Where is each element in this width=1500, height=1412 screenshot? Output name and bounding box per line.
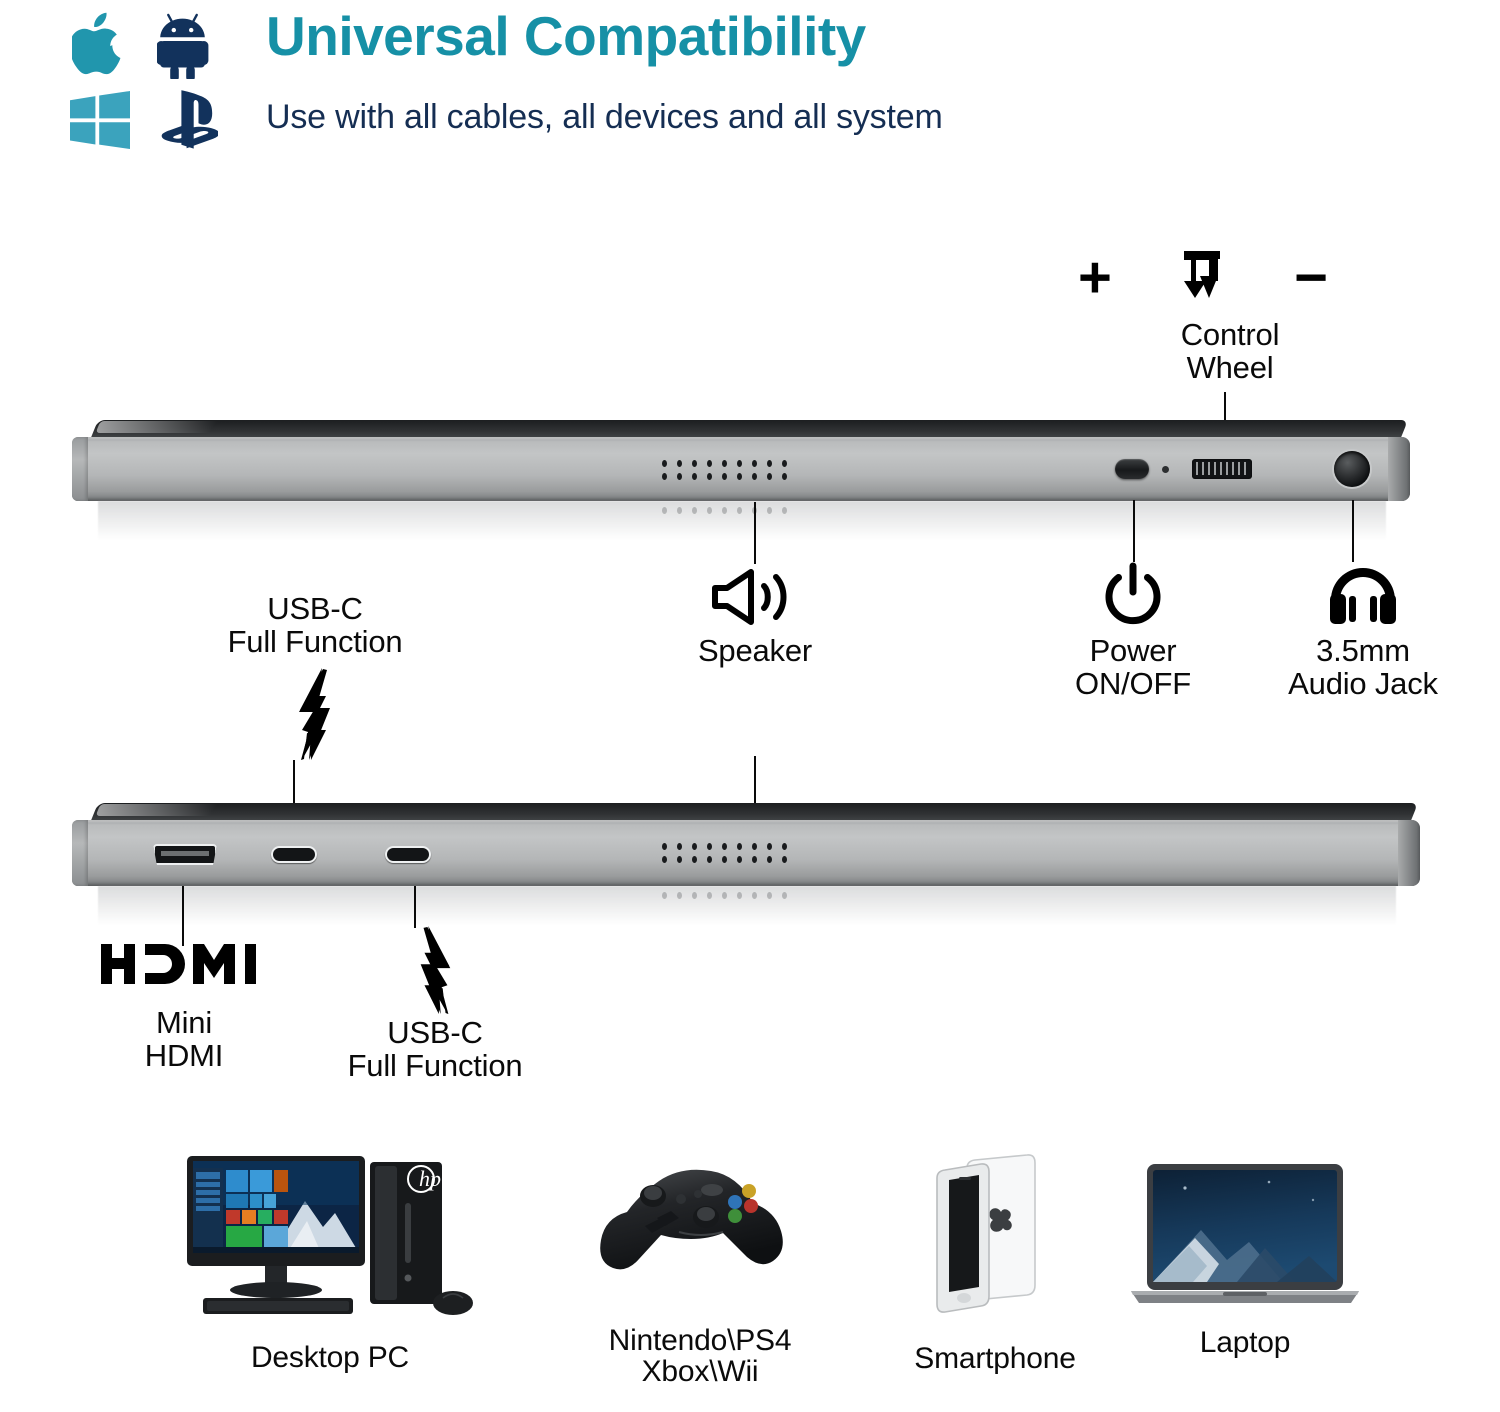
device-top-gloss xyxy=(96,421,261,433)
power-label: Power ON/OFF xyxy=(1022,634,1244,700)
device-left-cap-top xyxy=(72,437,88,501)
plus-icon: + xyxy=(1078,249,1112,307)
usb-c-port-2[interactable] xyxy=(385,846,431,863)
lightning-bolt-icon xyxy=(155,668,475,760)
smartphone-image xyxy=(915,1148,1075,1338)
gallery-label-game-controller: Nintendo\PS4 Xbox\Wii xyxy=(545,1326,855,1388)
laptop-image xyxy=(1127,1158,1363,1318)
usbc-bottom-label: USB-C Full Function xyxy=(275,1016,595,1082)
mini-hdmi-port[interactable] xyxy=(153,844,217,865)
usb-c-port-1[interactable] xyxy=(271,846,317,863)
hdmi-logo-icon xyxy=(70,944,298,984)
desktop-pc-image: hp xyxy=(175,1148,485,1333)
gallery-item-game-controller: Nintendo\PS4 Xbox\Wii xyxy=(545,1154,855,1388)
hdmi-port-inner xyxy=(161,851,209,856)
monitor-top-edge xyxy=(72,437,1410,501)
minus-icon: − xyxy=(1294,249,1328,307)
lightning-bolt-icon xyxy=(275,926,595,1016)
device-right-cap-bottom xyxy=(1398,820,1420,886)
gallery-label-smartphone: Smartphone xyxy=(880,1344,1110,1375)
enter-arrow-icon xyxy=(1174,248,1232,309)
callout-control-wheel: Control Wheel xyxy=(1100,318,1360,384)
page-title: Universal Compatibility xyxy=(266,4,943,69)
callout-power: Power ON/OFF xyxy=(1022,562,1244,700)
gallery-item-desktop-pc: hp xyxy=(160,1148,500,1374)
leader-line-usbc-bottom xyxy=(414,886,416,928)
leader-line-mini-hdmi xyxy=(182,886,184,946)
infographic-page: Universal Compatibility Use with all cab… xyxy=(0,0,1500,1412)
power-icon xyxy=(1022,562,1244,628)
apple-logo-icon xyxy=(60,12,140,78)
led-indicator xyxy=(1162,466,1169,473)
device-top-gloss-bottom xyxy=(96,804,261,816)
leader-line-power xyxy=(1133,500,1135,562)
power-button[interactable] xyxy=(1115,459,1149,479)
playstation-logo-icon xyxy=(140,89,235,151)
header: Universal Compatibility Use with all cab… xyxy=(0,0,1500,175)
gallery-item-laptop: Laptop xyxy=(1105,1158,1385,1359)
callout-usbc-bottom: USB-C Full Function xyxy=(275,926,595,1082)
speaker-grille-reflection-bottom xyxy=(662,892,787,899)
leader-line-audio-jack xyxy=(1352,500,1354,562)
audio-jack-label: 3.5mm Audio Jack xyxy=(1248,634,1478,700)
compatible-devices-gallery: hp xyxy=(0,1148,1500,1412)
device-right-cap-top xyxy=(1388,437,1410,501)
gallery-label-laptop: Laptop xyxy=(1105,1328,1385,1359)
speaker-grille-reflection-top xyxy=(662,507,787,514)
monitor-bottom-edge xyxy=(72,820,1420,886)
header-text-block: Universal Compatibility Use with all cab… xyxy=(266,4,943,138)
game-controller-image xyxy=(585,1154,815,1304)
speaker-grille-bottom xyxy=(662,843,787,863)
callout-mini-hdmi: Mini HDMI xyxy=(70,944,298,1072)
callout-usbc-top: USB-C Full Function xyxy=(155,592,475,760)
usbc-top-label: USB-C Full Function xyxy=(155,592,475,658)
speaker-label: Speaker xyxy=(635,634,875,667)
leader-line-speaker xyxy=(754,502,756,564)
page-subtitle: Use with all cables, all devices and all… xyxy=(266,97,943,138)
speaker-icon xyxy=(635,566,875,628)
speaker-grille-top xyxy=(662,460,787,480)
control-wheel-symbols: + − xyxy=(1078,248,1328,308)
callout-speaker: Speaker xyxy=(635,566,875,667)
control-wheel-slider[interactable] xyxy=(1192,459,1252,479)
audio-jack-port[interactable] xyxy=(1334,451,1370,487)
device-left-cap-bottom xyxy=(72,820,88,886)
control-wheel-label: Control Wheel xyxy=(1100,318,1360,384)
os-compatibility-icons xyxy=(60,6,235,156)
android-logo-icon xyxy=(140,11,235,79)
headphone-icon xyxy=(1248,562,1478,628)
callout-audio-jack: 3.5mm Audio Jack xyxy=(1248,562,1478,700)
gallery-label-desktop-pc: Desktop PC xyxy=(160,1343,500,1374)
mini-hdmi-label: Mini HDMI xyxy=(70,1006,298,1072)
windows-logo-icon xyxy=(60,91,140,149)
gallery-item-smartphone: Smartphone xyxy=(880,1148,1110,1375)
